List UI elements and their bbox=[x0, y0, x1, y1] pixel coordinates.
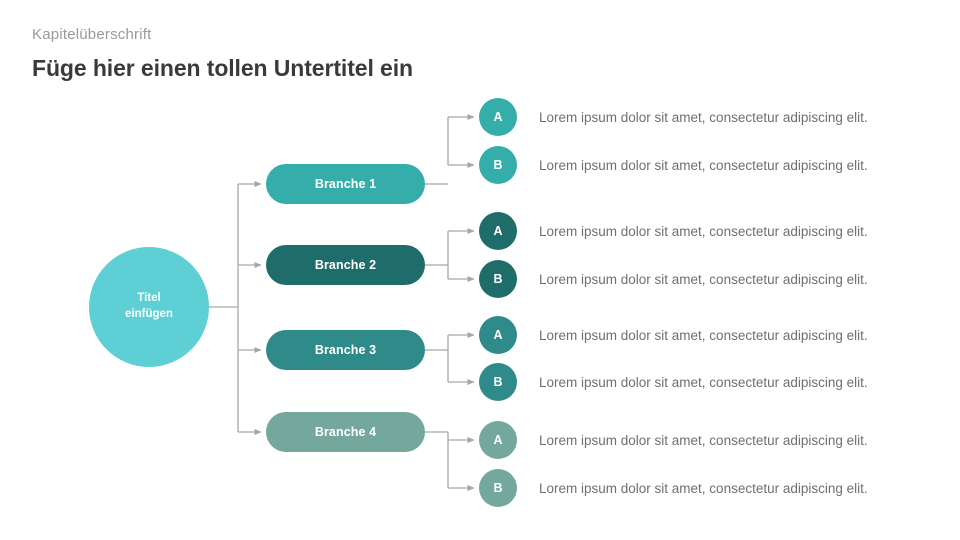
branch-node-2[interactable]: Branche 2 bbox=[266, 245, 425, 285]
leaf-badge-2b: B bbox=[479, 260, 517, 298]
leaf-row-4b[interactable]: B Lorem ipsum dolor sit amet, consectetu… bbox=[479, 469, 868, 507]
root-node[interactable]: Titel einfügen bbox=[89, 247, 209, 367]
branch-node-4-label: Branche 4 bbox=[315, 425, 376, 439]
leaf-text-1a: Lorem ipsum dolor sit amet, consectetur … bbox=[539, 110, 868, 125]
leaf-badge-1b: B bbox=[479, 146, 517, 184]
leaf-text-4a: Lorem ipsum dolor sit amet, consectetur … bbox=[539, 433, 868, 448]
leaf-badge-3a: A bbox=[479, 316, 517, 354]
leaf-row-2a[interactable]: A Lorem ipsum dolor sit amet, consectetu… bbox=[479, 212, 868, 250]
leaf-row-3a[interactable]: A Lorem ipsum dolor sit amet, consectetu… bbox=[479, 316, 868, 354]
leaf-badge-1a: A bbox=[479, 98, 517, 136]
leaf-text-2a: Lorem ipsum dolor sit amet, consectetur … bbox=[539, 224, 868, 239]
leaf-text-2b: Lorem ipsum dolor sit amet, consectetur … bbox=[539, 272, 868, 287]
slide-canvas: Kapitelüberschrift Füge hier einen tolle… bbox=[0, 0, 960, 540]
leaf-text-1b: Lorem ipsum dolor sit amet, consectetur … bbox=[539, 158, 868, 173]
branch-node-1[interactable]: Branche 1 bbox=[266, 164, 425, 204]
leaf-row-4a[interactable]: A Lorem ipsum dolor sit amet, consectetu… bbox=[479, 421, 868, 459]
root-node-line-2: einfügen bbox=[125, 307, 173, 323]
leaf-row-2b[interactable]: B Lorem ipsum dolor sit amet, consectetu… bbox=[479, 260, 868, 298]
root-node-line-1: Titel bbox=[125, 291, 173, 307]
branch-node-3-label: Branche 3 bbox=[315, 343, 376, 357]
leaf-row-1b[interactable]: B Lorem ipsum dolor sit amet, consectetu… bbox=[479, 146, 868, 184]
leaf-text-4b: Lorem ipsum dolor sit amet, consectetur … bbox=[539, 481, 868, 496]
branch-node-1-label: Branche 1 bbox=[315, 177, 376, 191]
branch-node-3[interactable]: Branche 3 bbox=[266, 330, 425, 370]
branch-node-2-label: Branche 2 bbox=[315, 258, 376, 272]
branch-node-4[interactable]: Branche 4 bbox=[266, 412, 425, 452]
leaf-badge-3b: B bbox=[479, 363, 517, 401]
leaf-row-3b[interactable]: B Lorem ipsum dolor sit amet, consectetu… bbox=[479, 363, 868, 401]
leaf-row-1a[interactable]: A Lorem ipsum dolor sit amet, consectetu… bbox=[479, 98, 868, 136]
leaf-text-3a: Lorem ipsum dolor sit amet, consectetur … bbox=[539, 328, 868, 343]
leaf-badge-2a: A bbox=[479, 212, 517, 250]
leaf-badge-4a: A bbox=[479, 421, 517, 459]
leaf-badge-4b: B bbox=[479, 469, 517, 507]
leaf-text-3b: Lorem ipsum dolor sit amet, consectetur … bbox=[539, 375, 868, 390]
